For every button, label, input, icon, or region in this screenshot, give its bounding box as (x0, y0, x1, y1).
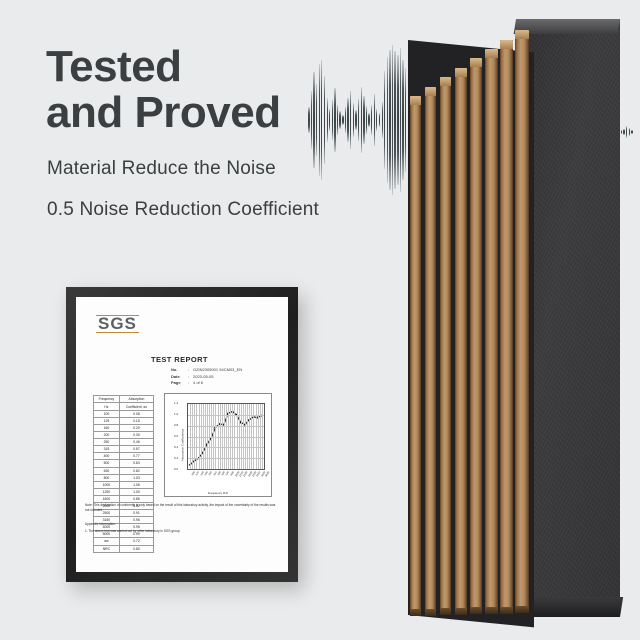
cell-frequency: αw (94, 538, 120, 545)
wave-bar (313, 72, 314, 168)
framed-test-report: SGS TEST REPORT No.:GZIN2305001 94CM03_E… (66, 287, 298, 582)
table-row: 1000.08 (94, 410, 154, 417)
wood-slat (425, 87, 436, 616)
table-head: Frequency Absorption Hz Coefficient, αs (94, 396, 154, 411)
cell-frequency: 400 (94, 453, 120, 460)
cell-coefficient: 0.80 (119, 545, 153, 552)
wave-bar (384, 71, 385, 169)
acoustic-slat-wood-panel (400, 0, 640, 640)
col-header-frequency: Frequency (94, 396, 120, 403)
cell-coefficient: 0.82 (119, 467, 153, 474)
sgs-logo: SGS (96, 315, 139, 333)
cell-coefficient: 0.30 (119, 432, 153, 439)
cell-frequency: 1600 (94, 495, 120, 502)
wave-bar (394, 51, 396, 189)
chart-y-tick: 0.8 (174, 423, 178, 427)
wave-bar (319, 64, 320, 176)
wood-slat (455, 68, 467, 615)
cell-frequency: 160 (94, 424, 120, 431)
subtitle-noise-reduction-coefficient: 0.5 Noise Reduction Coefficient (47, 199, 319, 221)
chart-y-tick: 0.2 (174, 456, 178, 460)
appendix-title: Appendix information: (85, 522, 180, 527)
subtitle-material-reduce-noise: Material Reduce the Noise (47, 158, 276, 180)
cell-coefficient: 0.08 (119, 410, 153, 417)
wave-bar (342, 115, 343, 125)
report-appendix: Appendix information: 1. The above test … (85, 522, 180, 535)
wave-bar (366, 106, 367, 134)
wave-bar (379, 113, 381, 127)
felt-top-edge (514, 19, 620, 34)
absorption-chart: Absorption Coefficientαs Frequency f/Hz … (164, 393, 272, 497)
cell-frequency: 500 (94, 460, 120, 467)
wave-bar (327, 98, 328, 142)
table-row: 5000.83 (94, 460, 154, 467)
table-row: 3150.57 (94, 446, 154, 453)
cell-frequency: 200 (94, 432, 120, 439)
cell-coefficient: 0.72 (119, 538, 153, 545)
cell-coefficient: 0.83 (119, 460, 153, 467)
table-row: NRC0.80 (94, 545, 154, 552)
wave-bar (363, 96, 365, 144)
wood-slat (470, 58, 482, 614)
wave-bar (371, 105, 373, 135)
report-note: Note: This declaration of conformity is … (85, 503, 279, 513)
wave-bar (382, 102, 383, 138)
table-row: 12501.00 (94, 488, 154, 495)
wave-bar (345, 107, 346, 133)
table-row: 4000.77 (94, 453, 154, 460)
cell-coefficient: 1.06 (119, 481, 153, 488)
report-page: SGS TEST REPORT No.:GZIN2305001 94CM03_E… (76, 297, 288, 572)
cell-frequency: NRC (94, 545, 120, 552)
wood-slat (410, 96, 421, 616)
cell-coefficient: 0.77 (119, 453, 153, 460)
wave-bar (332, 100, 334, 140)
cell-frequency: 800 (94, 474, 120, 481)
table-row: 2000.30 (94, 432, 154, 439)
report-meta: No.:GZIN2305001 94CM03_ENDate:2023-05-05… (171, 367, 242, 387)
cell-coefficient: 0.86 (119, 495, 153, 502)
chart-x-axis-label: Frequency f/Hz (165, 491, 271, 495)
cell-frequency: 250 (94, 439, 120, 446)
wave-bar (389, 50, 390, 190)
wood-slat (515, 30, 529, 613)
wave-bar (353, 103, 354, 137)
wood-slat (485, 49, 498, 614)
chart-y-tick: 0.4 (174, 445, 178, 449)
wave-bar (334, 88, 335, 152)
table-row: 6300.82 (94, 467, 154, 474)
poster-canvas: Tested and Proved Material Reduce the No… (0, 0, 640, 640)
cell-coefficient: 0.20 (119, 424, 153, 431)
cell-coefficient: 0.57 (119, 446, 153, 453)
wave-bar (397, 55, 398, 185)
wave-bar (392, 45, 393, 195)
wave-bar (355, 110, 357, 130)
chart-y-tick: 0.6 (174, 434, 178, 438)
meta-key: Page (171, 380, 188, 387)
wave-bar (324, 76, 326, 164)
wave-bar (308, 107, 310, 133)
table-subheader-row: Hz Coefficient, αs (94, 403, 154, 410)
wave-bar (350, 91, 351, 149)
wave-bar (311, 91, 312, 149)
table-row: 8001.03 (94, 474, 154, 481)
wave-bar (329, 109, 330, 131)
table-row: αw0.72 (94, 538, 154, 545)
appendix-item-1: 1. The above test was carried out by oth… (85, 529, 180, 534)
wave-bar (321, 60, 322, 180)
table-row: 2500.46 (94, 439, 154, 446)
cell-coefficient: 1.03 (119, 474, 153, 481)
wave-bar (376, 109, 377, 131)
chart-plot-area (187, 403, 265, 470)
wave-bar (374, 94, 375, 146)
col-subheader-hz: Hz (94, 403, 120, 410)
page-title: Tested and Proved (46, 44, 281, 136)
col-subheader-coefficient: Coefficient, αs (119, 403, 153, 410)
cell-frequency: 630 (94, 467, 120, 474)
wave-bar (387, 57, 389, 183)
meta-value: 4 of 6 (193, 380, 203, 387)
table-row: 1250.15 (94, 417, 154, 424)
wood-slat (440, 77, 451, 615)
wave-bar (368, 113, 369, 127)
table-header-row: Frequency Absorption (94, 396, 154, 403)
cell-frequency: 100 (94, 410, 120, 417)
wood-slat (500, 40, 513, 614)
wave-bar (339, 111, 341, 129)
col-header-absorption: Absorption (119, 396, 153, 403)
wave-bar (337, 105, 338, 135)
cell-coefficient: 0.46 (119, 439, 153, 446)
cell-coefficient: 0.15 (119, 417, 153, 424)
cell-frequency: 315 (94, 446, 120, 453)
wave-bar (361, 87, 362, 153)
cell-frequency: 125 (94, 417, 120, 424)
chart-y-tick: 1.0 (174, 412, 178, 416)
table-row: 10001.06 (94, 481, 154, 488)
cell-frequency: 1000 (94, 481, 120, 488)
chart-y-axis-label: Absorption Coefficientαs (180, 429, 184, 462)
cell-frequency: 1250 (94, 488, 120, 495)
wave-bar (347, 98, 349, 142)
chart-y-tick: 1.2 (174, 401, 178, 405)
report-title: TEST REPORT (151, 355, 208, 364)
table-row: 16000.86 (94, 495, 154, 502)
chart-y-tick: 0.0 (174, 467, 178, 471)
table-row: 1600.20 (94, 424, 154, 431)
wave-bar (358, 99, 359, 141)
report-meta-row: Page:4 of 6 (171, 380, 242, 387)
cell-coefficient: 1.00 (119, 488, 153, 495)
wave-bar (316, 84, 318, 156)
